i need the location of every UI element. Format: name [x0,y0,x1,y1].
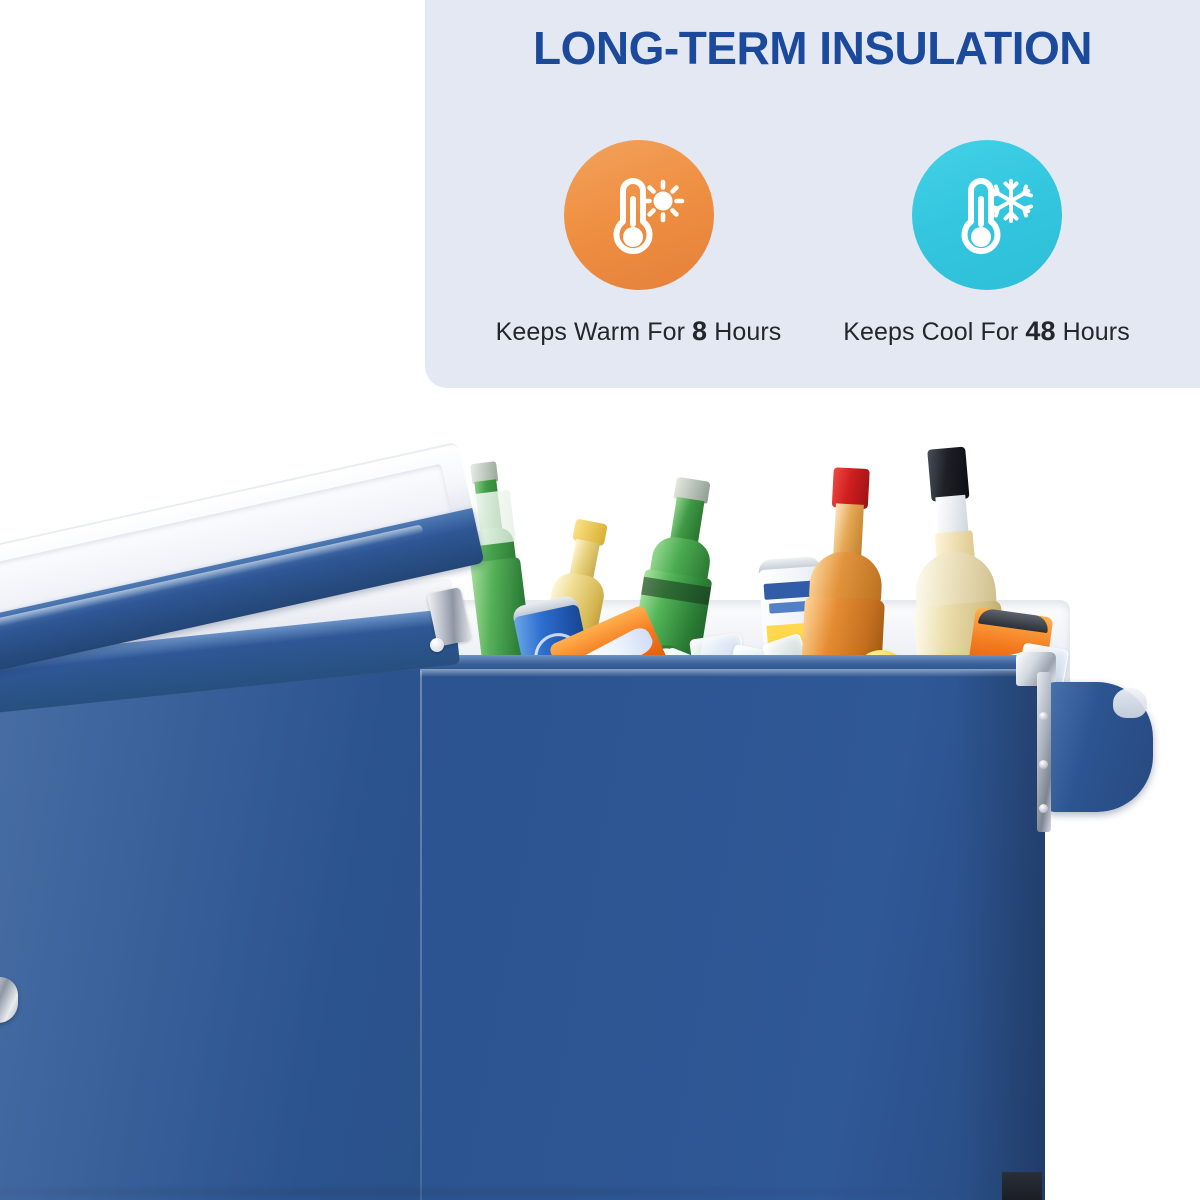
handle-screw [1039,712,1048,721]
feature-keeps-warm: Keeps Warm For 8 Hours [489,140,789,347]
product-photo [0,420,1200,1200]
feature-caption-cool-suffix: Hours [1063,318,1130,346]
thermometer-snowflake-icon [912,140,1062,290]
feature-keeps-cool: Keeps Cool For 48 Hours [837,140,1137,347]
cooler-front-edge-highlight [420,669,1035,677]
feature-caption-cool-prefix: Keeps Cool For [843,318,1018,346]
cooler-corner-seam [420,671,422,1200]
product-feature-image: LONG-TERM INSULATION [0,0,1200,1200]
handle-grip [1045,682,1153,812]
feature-list: Keeps Warm For 8 Hours [425,140,1200,347]
feature-caption-cool: Keeps Cool For 48 Hours [843,316,1130,347]
panel-title: LONG-TERM INSULATION [425,24,1200,72]
handle-screw [1039,760,1048,769]
feature-caption-cool-value: 48 [1025,316,1055,346]
lid-hinge-pin [430,638,444,652]
bottle-cap [927,447,969,502]
cooler-left-panel [0,671,420,1200]
handle-screw [1039,804,1048,813]
handle-bracket [1037,672,1051,832]
cooler-contents [430,440,1070,685]
feature-caption-warm-suffix: Hours [714,318,781,346]
insulation-info-panel: LONG-TERM INSULATION [425,0,1200,388]
side-handle [1037,668,1155,840]
product-floor-shadow [0,1184,1050,1200]
cooler-body-shadow [955,671,1045,1200]
feature-caption-warm-value: 8 [692,316,707,346]
thermometer-sun-icon [564,140,714,290]
cooler-body [0,655,1045,1200]
feature-caption-warm-prefix: Keeps Warm For [496,318,685,346]
feature-caption-warm: Keeps Warm For 8 Hours [496,316,782,347]
